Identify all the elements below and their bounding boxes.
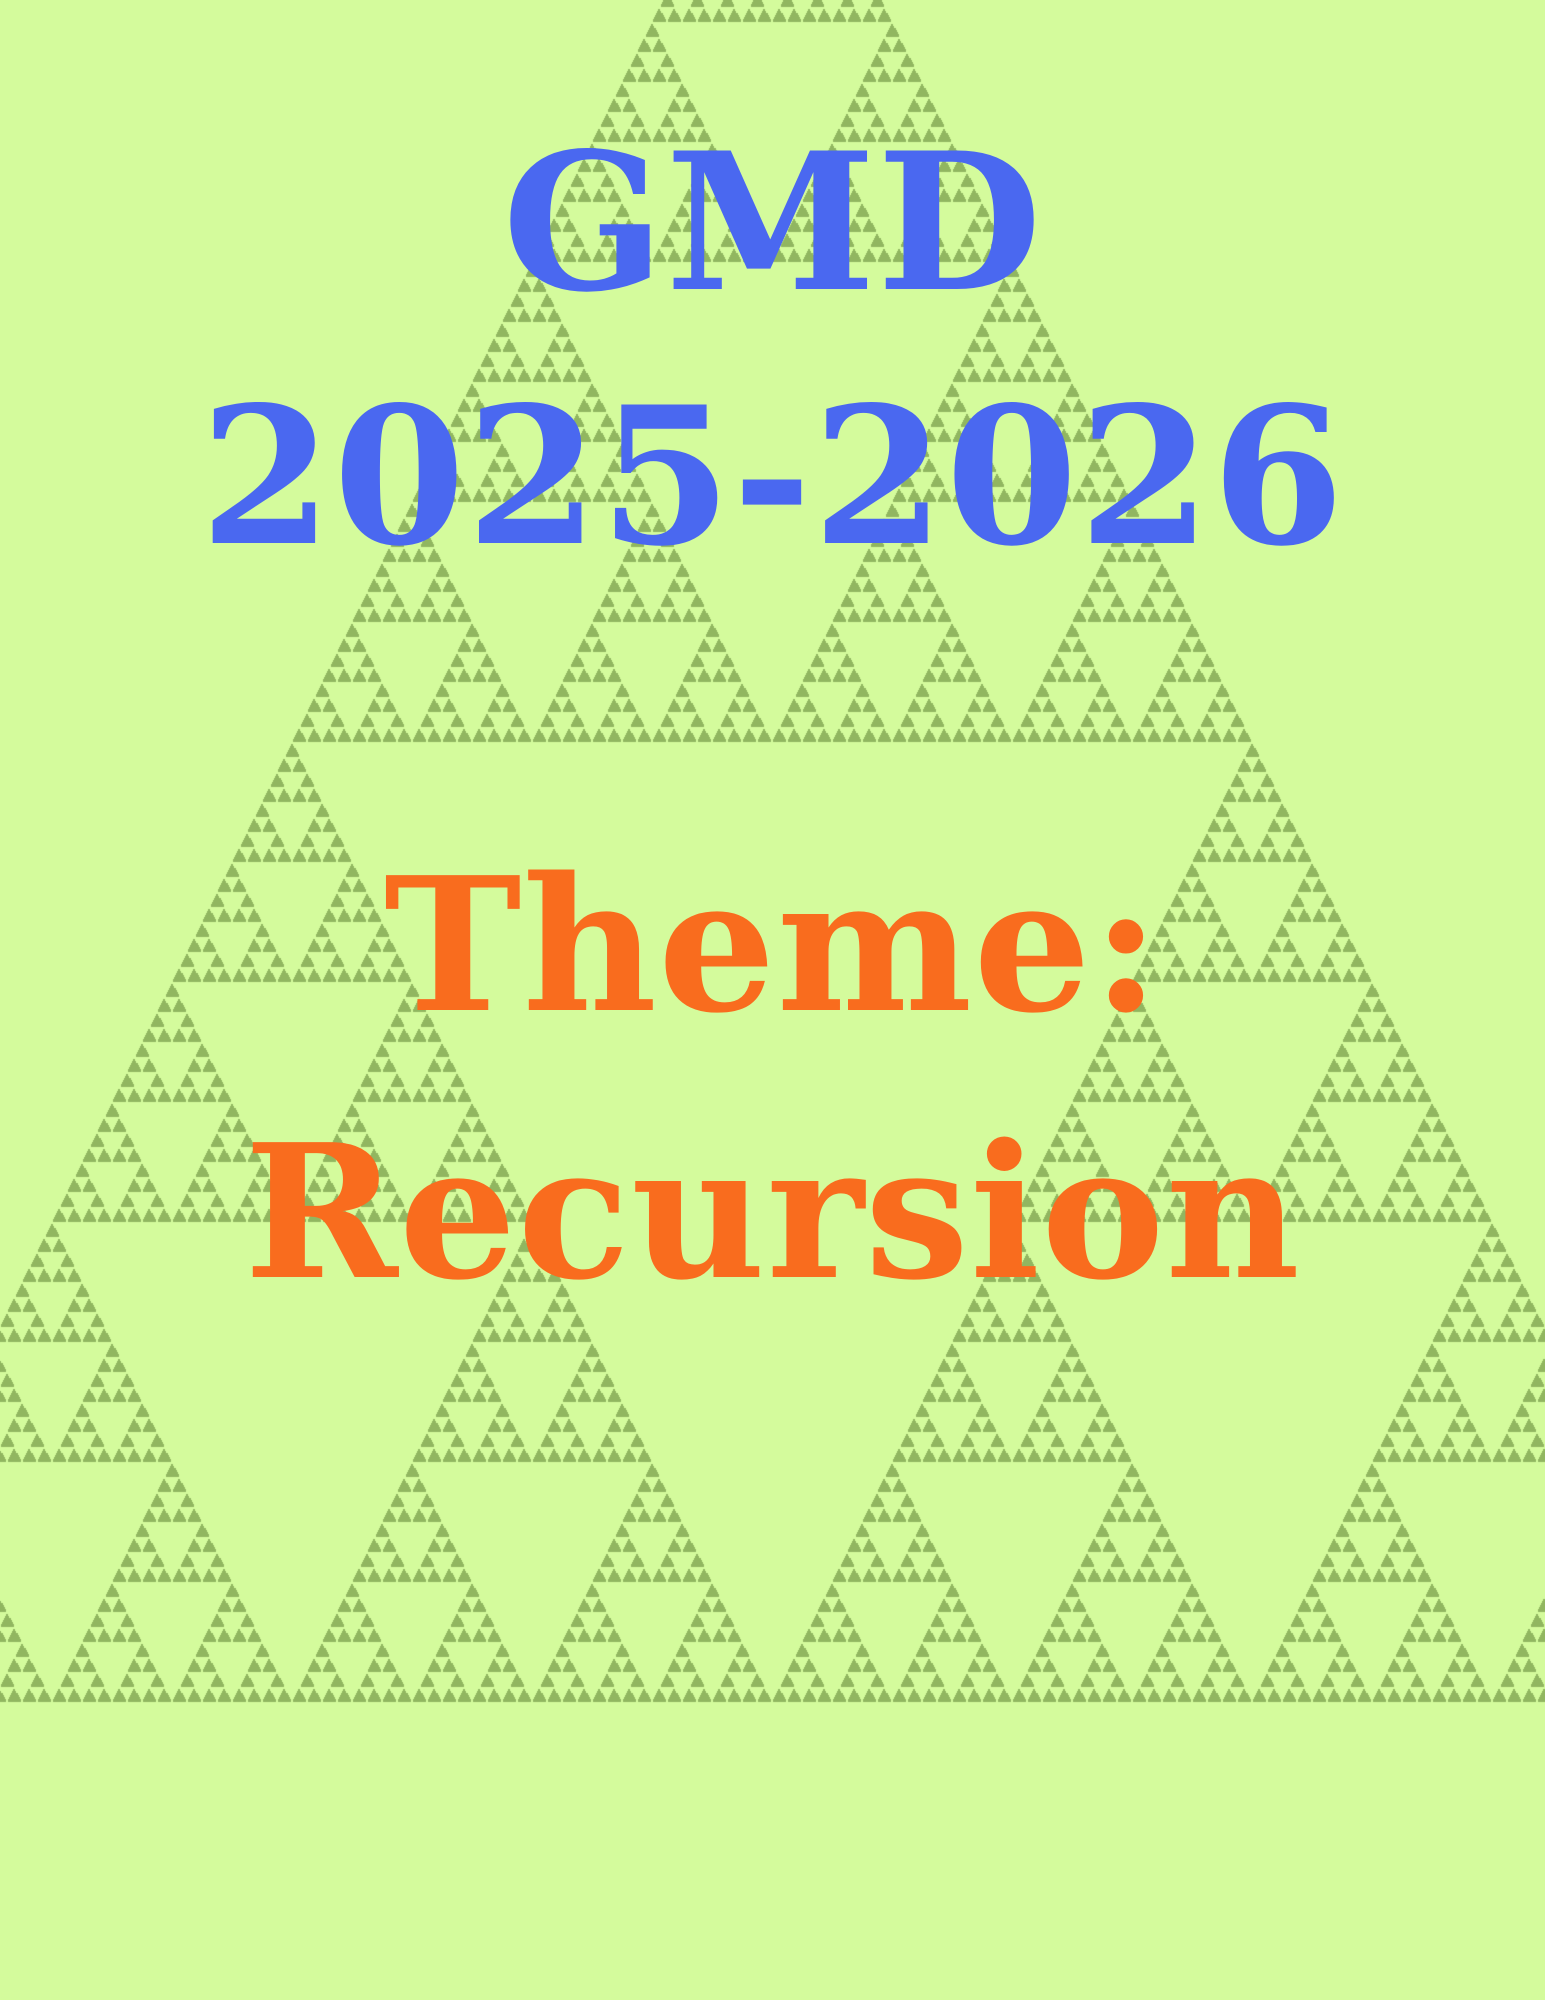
theme-value: Recursion [0,1120,1545,1305]
organization-title: GMD [0,128,1545,318]
theme-label: Theme: [0,853,1545,1038]
poster-canvas: GMD 2025-2026 Theme: Recursion [0,0,1545,2000]
poster-text-layer: GMD 2025-2026 Theme: Recursion [0,0,1545,2000]
season-years: 2025-2026 [0,382,1545,572]
